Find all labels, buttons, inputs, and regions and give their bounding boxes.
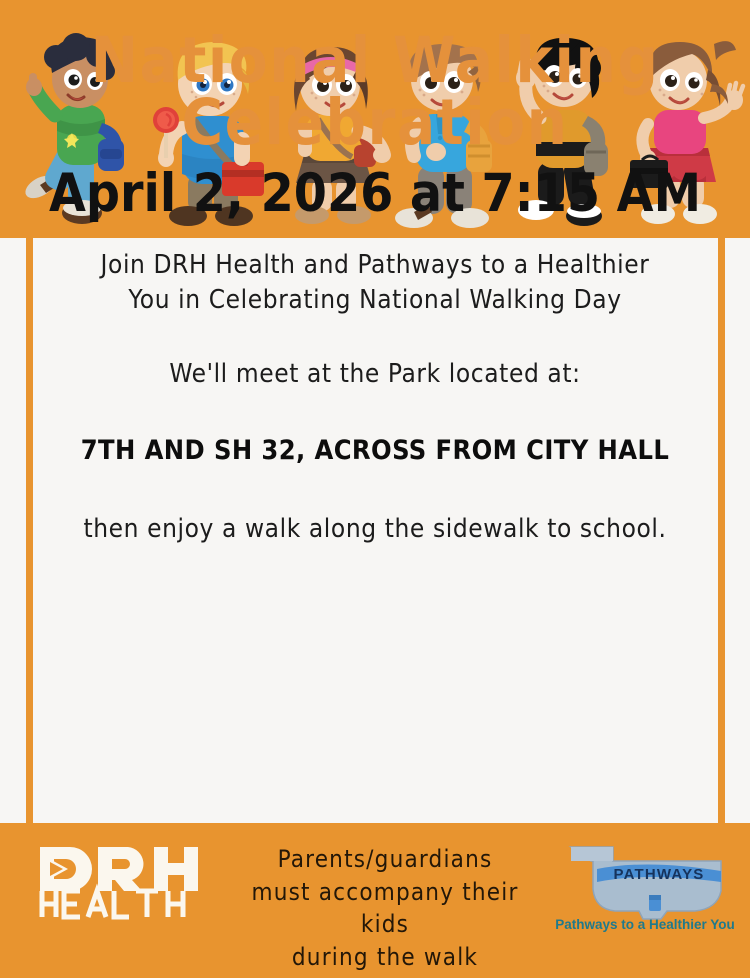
footer-note-line-3: during the walk bbox=[225, 941, 545, 974]
meeting-address: 7TH AND SH 32, ACROSS FROM CITY HALL bbox=[40, 435, 710, 466]
left-accent-rail bbox=[26, 238, 33, 838]
footer-band: DRH HEALTH Parents/guardians must accomp… bbox=[0, 823, 750, 978]
drh-health-logo: DRH HEALTH bbox=[36, 845, 211, 923]
footer-note: Parents/guardians must accompany their k… bbox=[225, 843, 545, 974]
meeting-line: We'll meet at the Park located at: bbox=[40, 357, 710, 391]
pathways-logo: PATHWAYS Pathways to a Healthier You bbox=[553, 839, 738, 934]
footer-note-line-2: must accompany their kids bbox=[225, 876, 545, 941]
poster-content: National Walking Celebration April 2, 20… bbox=[40, 0, 710, 547]
intro-line-1: Join DRH Health and Pathways to a Health… bbox=[40, 248, 710, 282]
intro-line-2: You in Celebrating National Walking Day bbox=[40, 283, 710, 317]
intro-paragraph: Join DRH Health and Pathways to a Health… bbox=[40, 248, 710, 317]
pathways-band-text: PATHWAYS bbox=[613, 866, 704, 883]
title-line-1: National Walking bbox=[40, 30, 710, 92]
pathways-tagline: Pathways to a Healthier You bbox=[555, 917, 735, 932]
right-accent-rail bbox=[718, 238, 725, 838]
page-title: National Walking Celebration bbox=[40, 0, 710, 153]
event-datetime: April 2, 2026 at 7:15 AM bbox=[40, 167, 710, 220]
closing-line: then enjoy a walk along the sidewalk to … bbox=[40, 512, 710, 546]
flyer-poster: National Walking Celebration April 2, 20… bbox=[0, 0, 750, 978]
footer-note-line-1: Parents/guardians bbox=[225, 843, 545, 876]
title-line-2: Celebration bbox=[40, 92, 710, 154]
